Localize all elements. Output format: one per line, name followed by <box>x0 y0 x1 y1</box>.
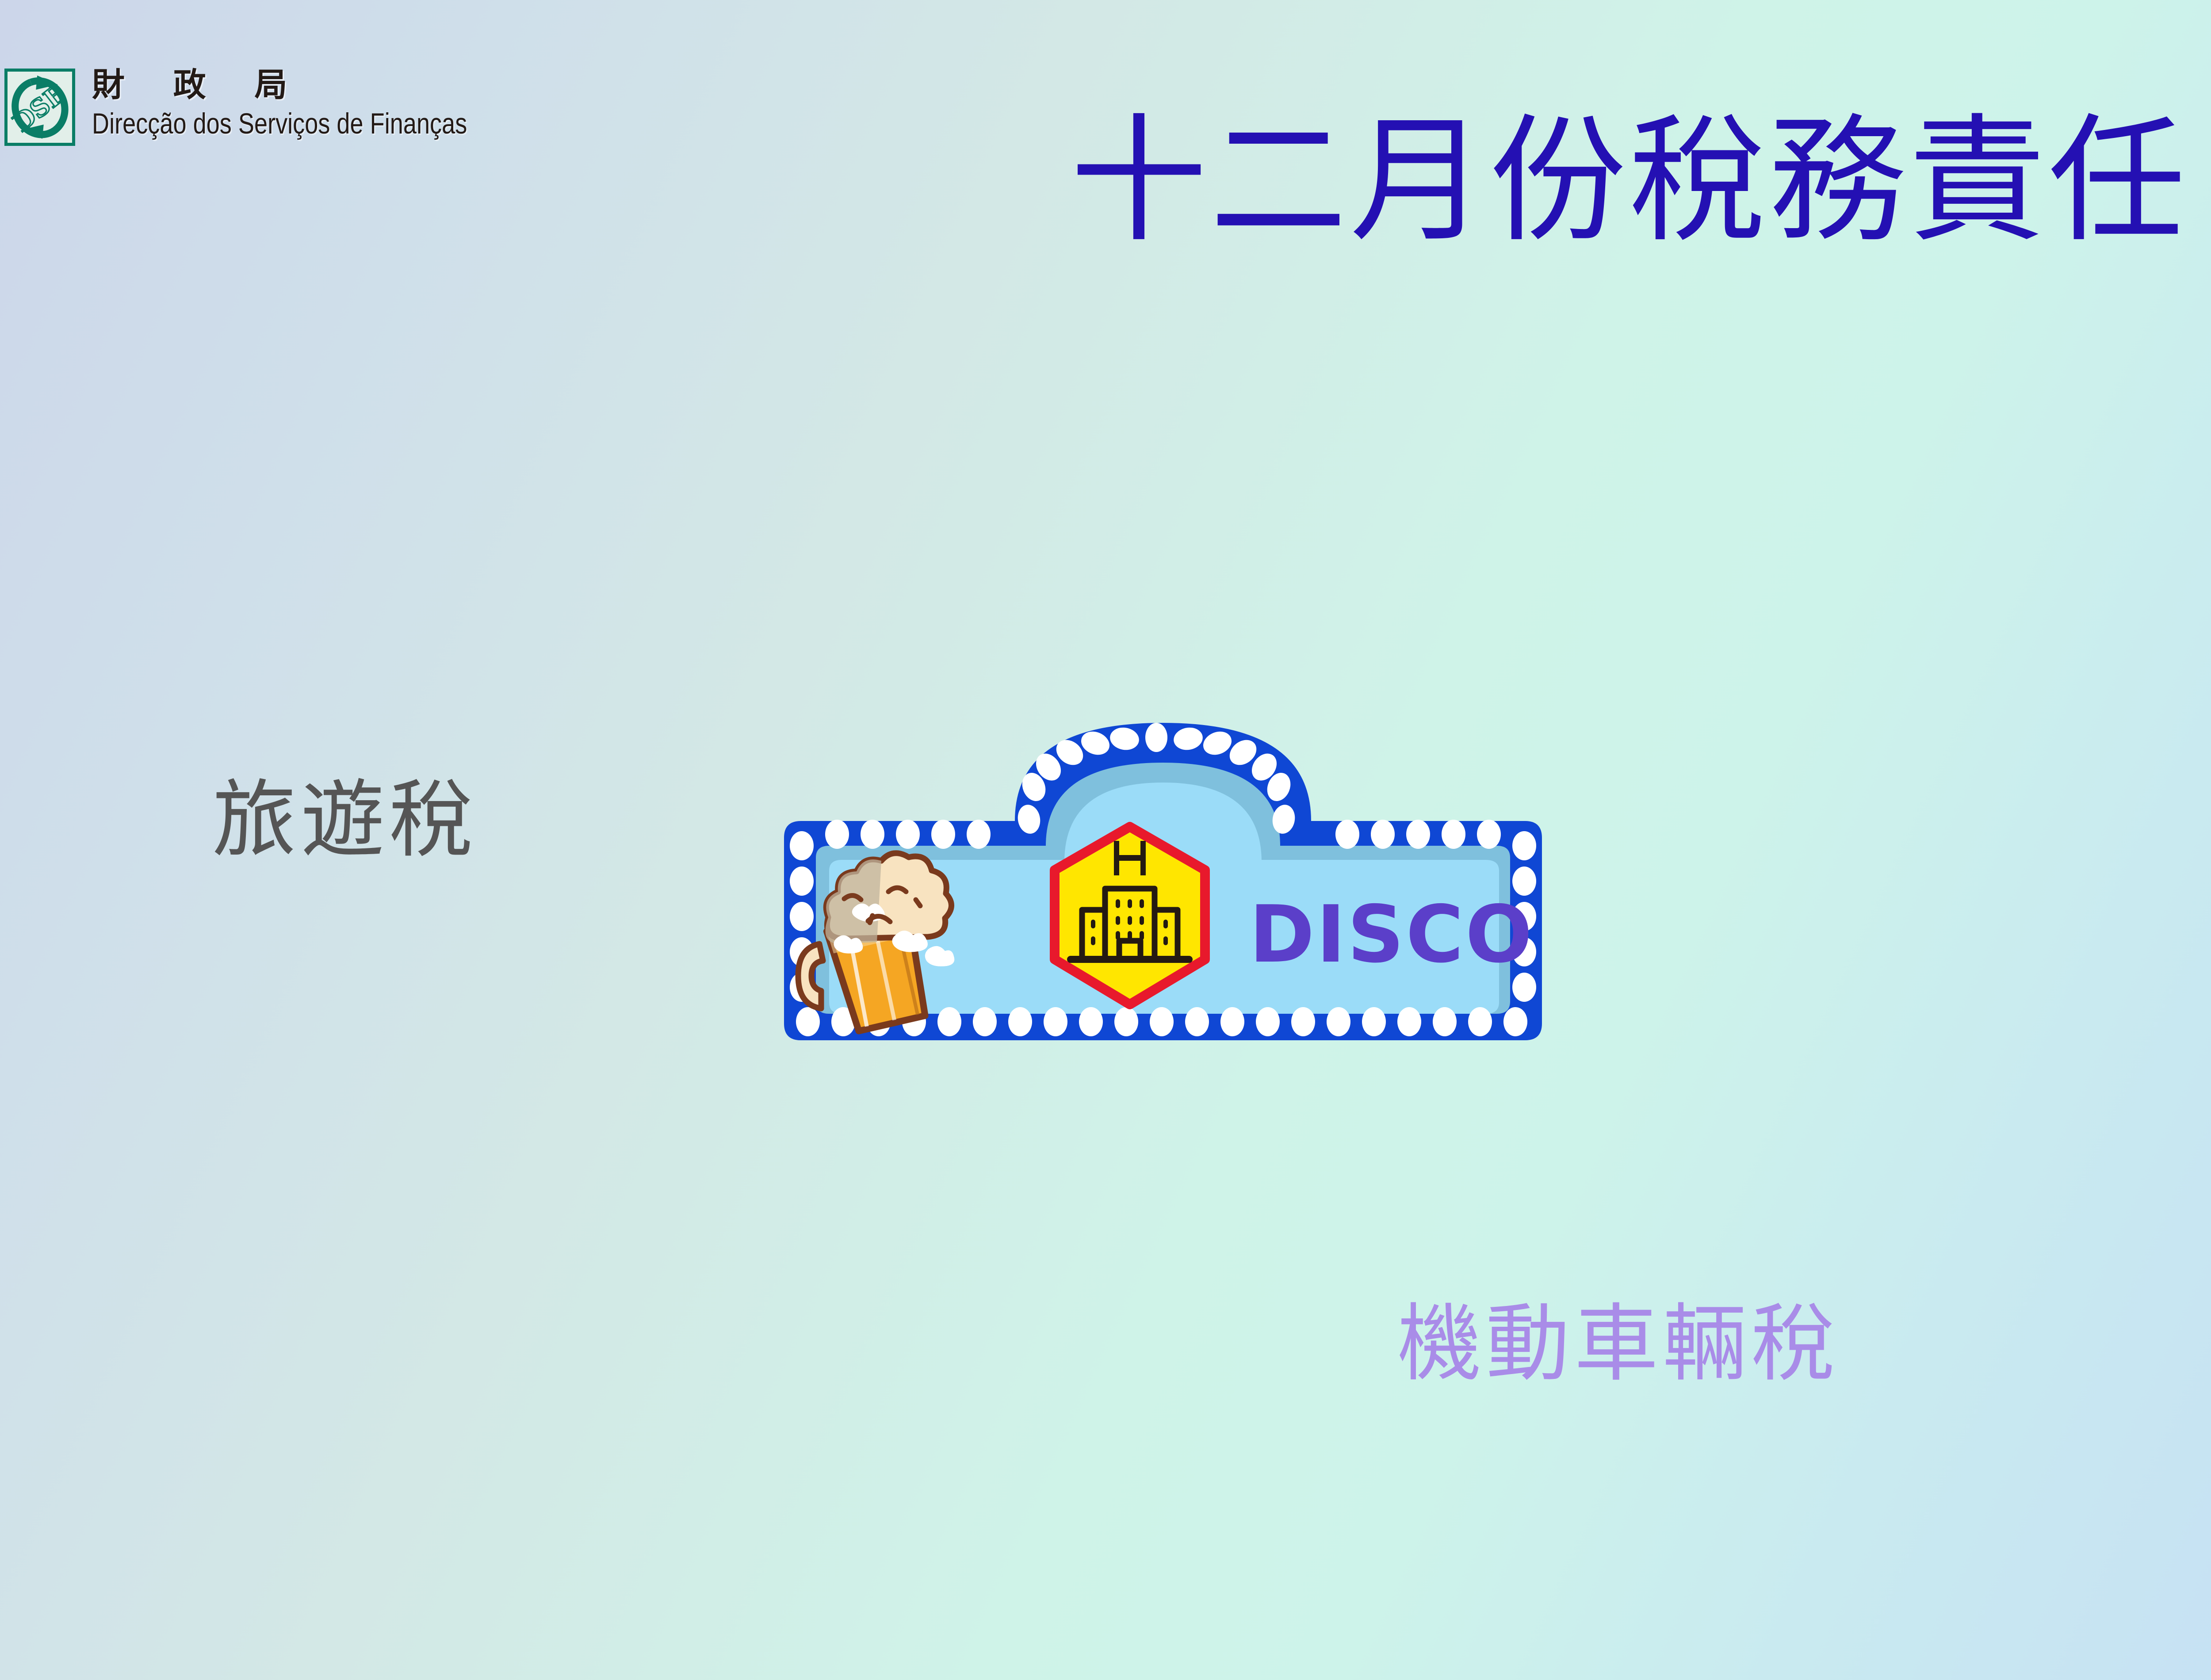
dsf-logo-icon: DSF <box>4 69 75 146</box>
disco-sign-text: DISCO <box>1249 889 1534 980</box>
agency-name-group: 財 政 局 Direcção dos Serviços de Finanças <box>92 69 549 140</box>
tourism-tax-label: 旅遊稅 <box>212 778 478 862</box>
motor-vehicle-tax-label: 機動車輛稅 <box>1397 1302 1840 1386</box>
dsf-logo-svg: DSF <box>8 72 72 143</box>
agency-name-portuguese: Direcção dos Serviços de Finanças <box>92 107 467 140</box>
slide-canvas: DSF 財 政 局 Direcção dos Serviços de Finan… <box>0 0 2211 1680</box>
agency-name-chinese: 財 政 局 <box>92 69 549 101</box>
agency-logo-block: DSF 財 政 局 Direcção dos Serviços de Finan… <box>4 69 549 146</box>
disco-marquee-sign-icon: DISCO <box>767 705 1559 1057</box>
hotel-badge-icon <box>1055 827 1205 1004</box>
page-title: 十二月份稅務責任 <box>1070 113 2188 250</box>
